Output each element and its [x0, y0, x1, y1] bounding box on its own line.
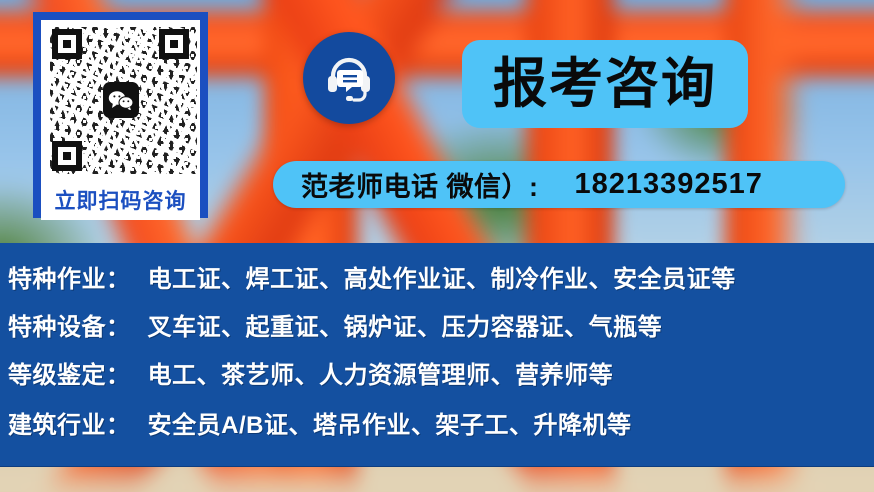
page-title: 报考咨询 — [493, 57, 717, 111]
qr-finder-top-left-icon — [52, 29, 82, 59]
category-label: 建筑行业： — [8, 412, 131, 439]
category-value: 电工证、焊工证、高处作业证、制冷作业、安全员证等 — [148, 266, 736, 293]
category-row: 特种作业： 电工证、焊工证、高处作业证、制冷作业、安全员证等 — [8, 259, 736, 294]
category-value: 电工、茶艺师、人力资源管理师、营养师等 — [148, 362, 614, 389]
category-label: 特种作业： — [8, 266, 131, 293]
headset-support-icon — [303, 32, 395, 124]
contact-label: 范老师电话 微信）: — [301, 165, 539, 204]
qr-finder-bottom-left-icon — [52, 141, 82, 171]
category-row: 特种设备： 叉车证、起重证、锅炉证、压力容器证、气瓶等 — [8, 307, 662, 342]
promotional-poster: 立即扫码咨询 报考咨询 范老师电话 微信）: 18213392517 特种作业：… — [0, 0, 874, 492]
category-label: 等级鉴定： — [8, 362, 131, 389]
title-banner: 报考咨询 — [462, 40, 748, 128]
wechat-icon — [103, 82, 139, 118]
contact-phone-number[interactable]: 18213392517 — [575, 168, 763, 201]
qr-code-image — [41, 20, 200, 180]
contact-banner[interactable]: 范老师电话 微信）: 18213392517 — [273, 161, 845, 208]
categories-panel: 特种作业： 电工证、焊工证、高处作业证、制冷作业、安全员证等 特种设备： 叉车证… — [0, 243, 874, 467]
category-row: 等级鉴定： 电工、茶艺师、人力资源管理师、营养师等 — [8, 355, 613, 390]
qr-finder-top-right-icon — [159, 29, 189, 59]
qr-code-card[interactable]: 立即扫码咨询 — [33, 12, 208, 218]
category-label: 特种设备： — [8, 314, 131, 341]
qr-card-caption: 立即扫码咨询 — [41, 180, 200, 220]
category-value: 叉车证、起重证、锅炉证、压力容器证、气瓶等 — [148, 314, 663, 341]
category-value: 安全员A/B证、塔吊作业、架子工、升降机等 — [148, 412, 632, 439]
category-row: 建筑行业： 安全员A/B证、塔吊作业、架子工、升降机等 — [8, 405, 632, 440]
